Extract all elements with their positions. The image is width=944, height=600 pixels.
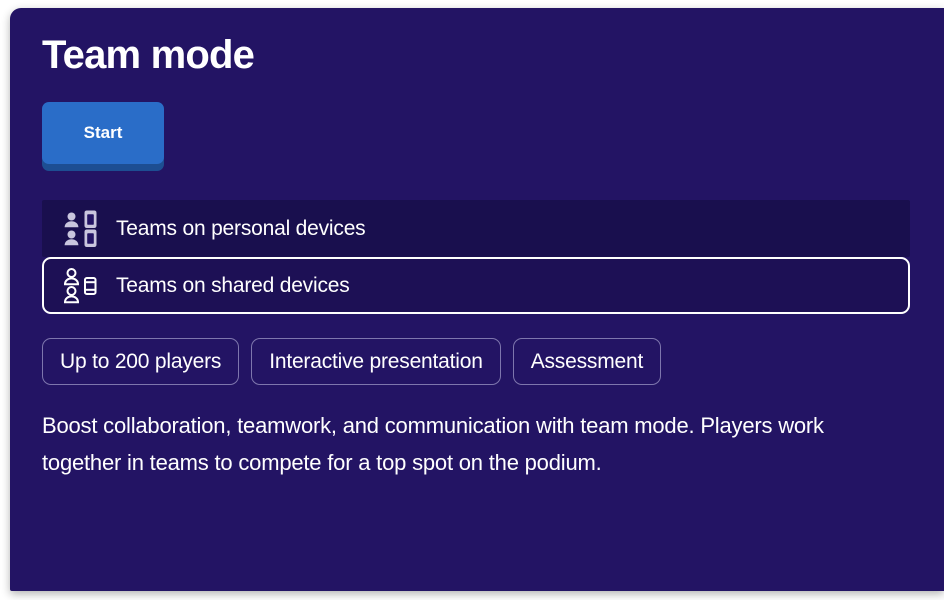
option-row-personal-devices[interactable]: Teams on personal devices xyxy=(42,200,910,257)
page-title: Team mode xyxy=(34,34,918,76)
tag-interactive-presentation[interactable]: Interactive presentation xyxy=(251,338,501,385)
start-button[interactable]: Start xyxy=(42,102,164,164)
mode-description: Boost collaboration, teamwork, and commu… xyxy=(34,407,904,482)
two-people-one-phone-icon xyxy=(62,266,102,306)
tag-up-to-200-players[interactable]: Up to 200 players xyxy=(42,338,239,385)
start-button-container: Start xyxy=(34,102,918,164)
screen-root: Team mode Start xyxy=(0,0,944,600)
tag-list: Up to 200 players Interactive presentati… xyxy=(34,338,918,385)
option-label: Teams on personal devices xyxy=(116,217,365,241)
tag-assessment[interactable]: Assessment xyxy=(513,338,661,385)
device-options-list: Teams on personal devices xyxy=(34,200,910,314)
team-mode-card: Team mode Start xyxy=(10,8,944,591)
option-row-shared-devices[interactable]: Teams on shared devices xyxy=(42,257,910,314)
option-label: Teams on shared devices xyxy=(116,274,350,298)
two-people-two-phones-icon xyxy=(62,209,102,249)
